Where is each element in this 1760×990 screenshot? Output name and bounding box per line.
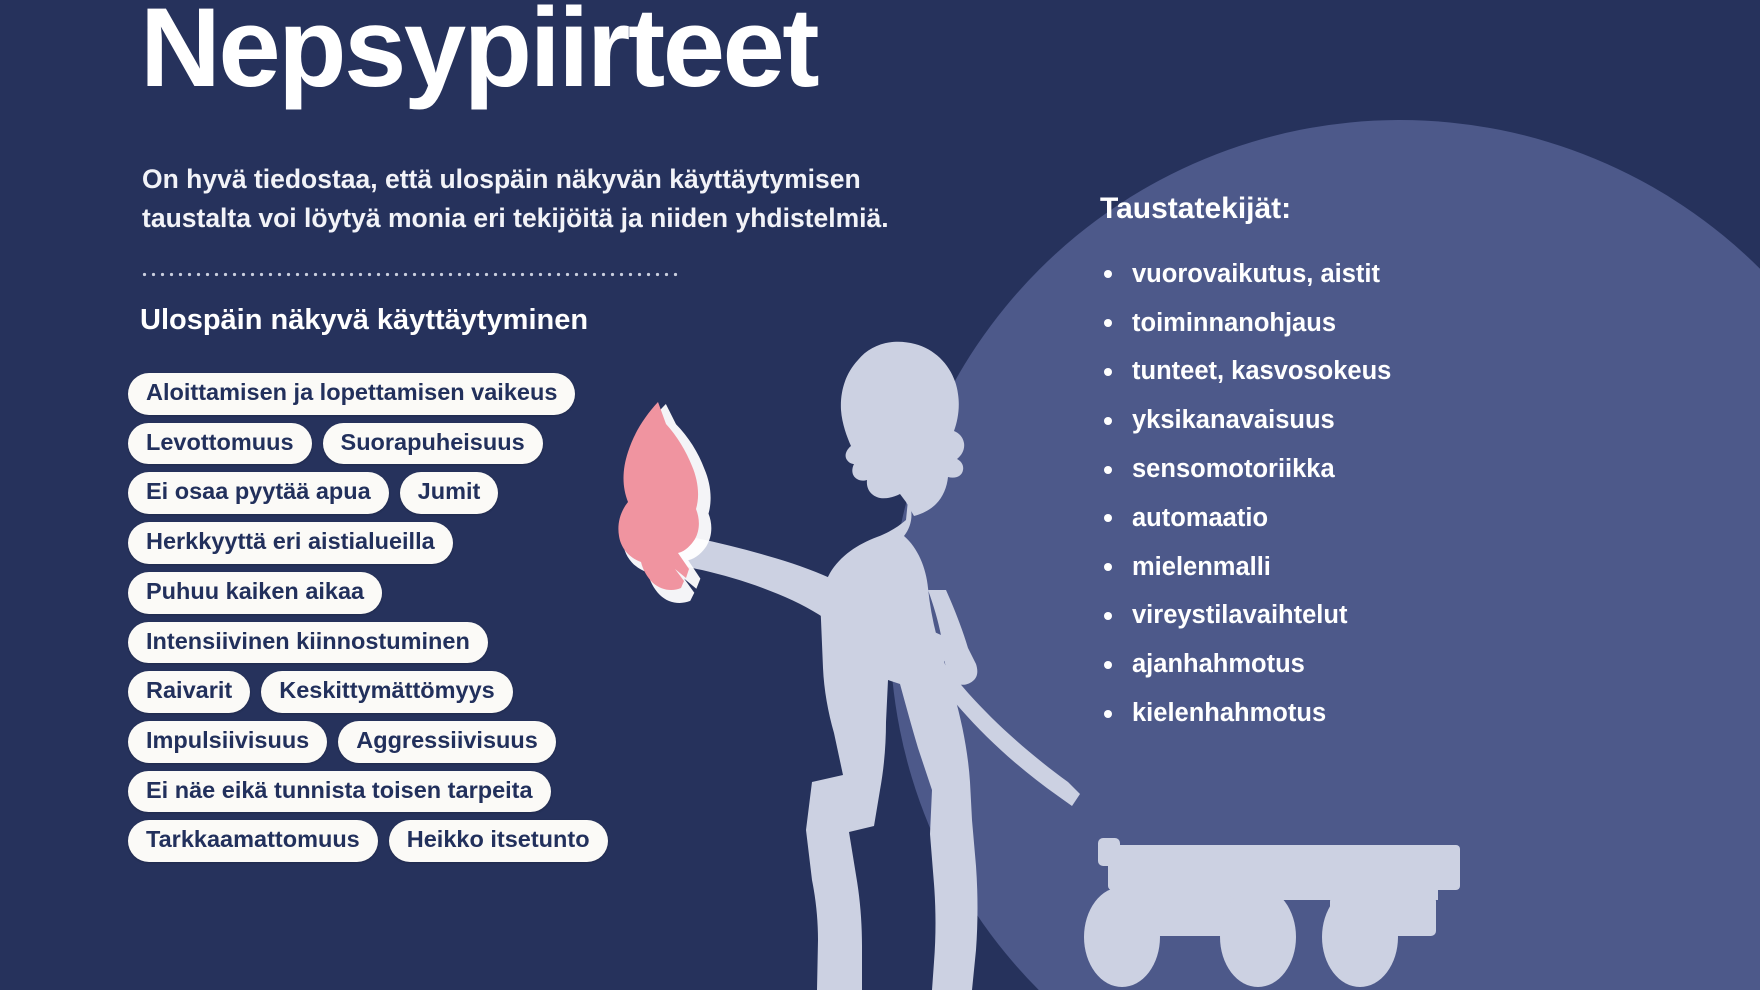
intro-paragraph: On hyvä tiedostaa, että ulospäin näkyvän…: [142, 160, 962, 238]
list-item-label: toiminnanohjaus: [1132, 309, 1336, 338]
list-item: mielenmalli: [1096, 543, 1391, 592]
pill-row: Herkkyyttä eri aistialueilla: [128, 522, 748, 564]
list-item: kielenhahmotus: [1096, 689, 1391, 738]
pill-row: Aloittamisen ja lopettamisen vaikeus: [128, 373, 748, 415]
list-item-label: automaatio: [1132, 504, 1268, 533]
behaviour-section-heading: Ulospäin näkyvä käyttäytyminen: [140, 303, 588, 338]
pill-row: Impulsiivisuus Aggressiivisuus: [128, 721, 748, 763]
left-column: Nepsypiirteet On hyvä tiedostaa, että ul…: [0, 0, 760, 990]
list-item: automaatio: [1096, 494, 1391, 543]
page-title: Nepsypiirteet: [140, 0, 817, 109]
pill-row: Ei näe eikä tunnista toisen tarpeita: [128, 771, 748, 813]
list-item: yksikanavaisuus: [1096, 396, 1391, 445]
bullet-dot-icon: [1104, 319, 1112, 327]
list-item-label: yksikanavaisuus: [1132, 406, 1335, 435]
list-item: ajanhahmotus: [1096, 640, 1391, 689]
bullet-dot-icon: [1104, 563, 1112, 571]
pill-row: Raivarit Keskittymättömyys: [128, 671, 748, 713]
bullet-dot-icon: [1104, 612, 1112, 620]
list-item-label: vuorovaikutus, aistit: [1132, 260, 1380, 289]
right-column: Taustatekijät: vuorovaikutus, aistit toi…: [1096, 0, 1656, 990]
behaviour-pill-list: Aloittamisen ja lopettamisen vaikeus Lev…: [128, 373, 748, 862]
pill-row: Ei osaa pyytää apua Jumit: [128, 472, 748, 514]
bullet-dot-icon: [1104, 270, 1112, 278]
list-item-label: vireystilavaihtelut: [1132, 601, 1347, 630]
list-item: vuorovaikutus, aistit: [1096, 250, 1391, 299]
pill-row: Intensiivinen kiinnostuminen: [128, 622, 748, 664]
factors-section-heading: Taustatekijät:: [1100, 192, 1291, 226]
list-item: sensomotoriikka: [1096, 445, 1391, 494]
bullet-dot-icon: [1104, 368, 1112, 376]
pill-row: Tarkkaamattomuus Heikko itsetunto: [128, 820, 748, 862]
behaviour-pill[interactable]: Aloittamisen ja lopettamisen vaikeus: [128, 373, 575, 415]
behaviour-pill[interactable]: Puhuu kaiken aikaa: [128, 572, 382, 614]
pill-row: Puhuu kaiken aikaa: [128, 572, 748, 614]
dotted-divider: [140, 272, 678, 277]
behaviour-pill[interactable]: Ei näe eikä tunnista toisen tarpeita: [128, 771, 551, 813]
list-item-label: sensomotoriikka: [1132, 455, 1335, 484]
list-item: vireystilavaihtelut: [1096, 592, 1391, 641]
list-item-label: kielenhahmotus: [1132, 699, 1326, 728]
bullet-dot-icon: [1104, 710, 1112, 718]
behaviour-pill[interactable]: Tarkkaamattomuus: [128, 820, 378, 862]
behaviour-pill[interactable]: Keskittymättömyys: [261, 671, 513, 713]
factors-bullet-list: vuorovaikutus, aistit toiminnanohjaus tu…: [1096, 250, 1391, 738]
list-item-label: ajanhahmotus: [1132, 650, 1305, 679]
bullet-dot-icon: [1104, 661, 1112, 669]
behaviour-pill[interactable]: Herkkyyttä eri aistialueilla: [128, 522, 453, 564]
list-item: tunteet, kasvosokeus: [1096, 348, 1391, 397]
infographic-poster: Nepsypiirteet On hyvä tiedostaa, että ul…: [0, 0, 1760, 990]
list-item: toiminnanohjaus: [1096, 299, 1391, 348]
behaviour-pill[interactable]: Raivarit: [128, 671, 250, 713]
behaviour-pill[interactable]: Jumit: [400, 472, 499, 514]
bullet-dot-icon: [1104, 417, 1112, 425]
behaviour-pill[interactable]: Suorapuheisuus: [323, 423, 543, 465]
behaviour-pill[interactable]: Intensiivinen kiinnostuminen: [128, 622, 488, 664]
list-item-label: tunteet, kasvosokeus: [1132, 357, 1391, 386]
behaviour-pill[interactable]: Levottomuus: [128, 423, 312, 465]
bullet-dot-icon: [1104, 466, 1112, 474]
behaviour-pill[interactable]: Aggressiivisuus: [338, 721, 556, 763]
list-item-label: mielenmalli: [1132, 553, 1271, 582]
behaviour-pill[interactable]: Ei osaa pyytää apua: [128, 472, 389, 514]
behaviour-pill[interactable]: Impulsiivisuus: [128, 721, 327, 763]
pill-row: Levottomuus Suorapuheisuus: [128, 423, 748, 465]
bullet-dot-icon: [1104, 514, 1112, 522]
behaviour-pill[interactable]: Heikko itsetunto: [389, 820, 608, 862]
